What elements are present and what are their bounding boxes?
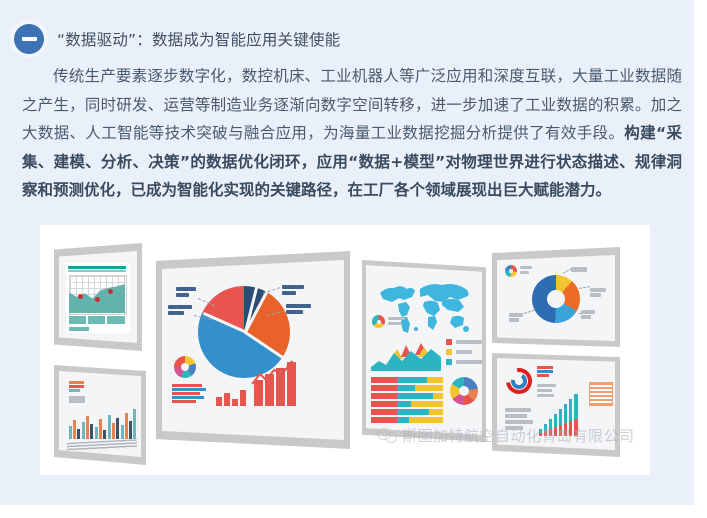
panel-screen <box>497 358 615 450</box>
mini-donut-chart <box>505 265 517 277</box>
area-chart-panel <box>54 243 142 351</box>
bar <box>544 431 547 436</box>
text-placeholder <box>505 420 533 424</box>
stacked-row <box>371 401 443 407</box>
callout-label <box>286 304 311 308</box>
donut-hole <box>547 290 565 308</box>
donut-hole <box>509 269 513 273</box>
text-placeholder <box>505 414 527 418</box>
bar <box>73 420 76 439</box>
legend-bar <box>172 384 202 387</box>
bar <box>108 415 111 439</box>
callout-label <box>509 318 519 322</box>
segment <box>427 377 443 383</box>
bar <box>69 426 72 439</box>
donut-chart <box>450 377 478 405</box>
legend-bar <box>537 384 556 387</box>
callout-label <box>571 267 587 272</box>
legend-swatch <box>69 389 80 392</box>
legend-swatch <box>69 381 84 384</box>
segment <box>433 393 443 399</box>
panel-screen <box>366 265 482 435</box>
legend-swatch <box>446 339 452 345</box>
callout-label <box>176 293 189 297</box>
segment <box>397 377 427 383</box>
segment <box>371 401 397 407</box>
segment <box>409 417 443 423</box>
legend-swatch <box>69 385 84 388</box>
bar <box>116 418 119 439</box>
bar <box>559 425 562 436</box>
legend-swatch <box>446 349 452 355</box>
world-map-panel <box>362 260 486 442</box>
donut-hole <box>459 386 469 396</box>
bar <box>129 421 132 439</box>
data-point <box>108 289 113 294</box>
bar <box>125 413 128 439</box>
legend-bar <box>172 400 196 403</box>
data-point <box>95 297 100 302</box>
panel-screen <box>497 255 615 341</box>
segment <box>415 385 443 391</box>
bar <box>554 427 557 436</box>
bar <box>112 423 115 439</box>
callout-label <box>282 291 296 295</box>
axis-labels <box>67 439 137 452</box>
article-panel: “数据驱动”：数据成为智能应用关键使能 传统生产要素逐步数字化，数控机床、工业机… <box>0 0 694 505</box>
bar <box>77 429 80 439</box>
bar <box>95 427 98 439</box>
legend-bar <box>172 392 200 395</box>
segment <box>397 385 415 391</box>
text-placeholder <box>505 408 531 412</box>
pie-chart-panel <box>156 251 350 449</box>
bar <box>121 425 124 439</box>
chart-surface <box>66 263 130 333</box>
legend-bar <box>537 370 553 373</box>
bar <box>569 421 572 436</box>
stacked-row <box>371 393 443 399</box>
trend-arrow <box>216 360 326 406</box>
mini-donut-chart <box>372 315 385 328</box>
bar <box>99 419 102 439</box>
legend-bar <box>172 388 206 391</box>
segment <box>397 417 409 423</box>
segment <box>429 409 443 415</box>
leader-line <box>524 310 535 314</box>
bar <box>86 416 89 439</box>
legend-bar <box>172 396 204 399</box>
bar <box>133 409 136 439</box>
callout-label <box>286 310 303 314</box>
section-heading: “数据驱动”：数据成为智能应用关键使能 <box>14 22 340 56</box>
figure-card: 斯图加特航空自动化青岛有限公司 <box>40 225 650 475</box>
segment <box>371 377 397 383</box>
stacked-row <box>371 417 443 423</box>
segment <box>371 409 397 415</box>
bar <box>539 433 542 436</box>
legend-bar <box>456 360 482 364</box>
callout-label <box>509 313 523 317</box>
bar-chart-panel <box>54 365 146 465</box>
donut-chart-panel <box>492 247 620 347</box>
legend-bar <box>456 350 472 354</box>
mini-donut-chart <box>174 356 196 378</box>
legend-block <box>107 316 125 324</box>
callout-label <box>168 305 192 309</box>
top-rule-2 <box>68 270 126 272</box>
mixed-chart-panel <box>492 353 620 457</box>
segment <box>397 409 429 415</box>
body-paragraph: 传统生产要素逐步数字化，数控机床、工业机器人等广泛应用和深度互联，大量工业数据随… <box>22 62 682 205</box>
bar <box>90 424 93 439</box>
legend-bar <box>520 271 529 274</box>
callout-label <box>590 288 606 292</box>
panel-screen <box>59 371 141 457</box>
stacked-row <box>371 409 443 415</box>
segment <box>371 385 397 391</box>
legend-bar <box>537 366 553 369</box>
legend-bar <box>537 374 549 377</box>
bar <box>549 429 552 436</box>
minus-circle-icon[interactable] <box>14 24 44 54</box>
donut-hole <box>377 320 381 324</box>
legend-bar <box>388 322 401 325</box>
panel-screen <box>59 251 137 343</box>
callout-label <box>176 287 196 291</box>
donut-hole <box>181 363 189 371</box>
callout-label <box>282 285 304 289</box>
growth-bars <box>216 360 326 406</box>
callout-label <box>581 315 591 319</box>
callout-label <box>581 310 595 314</box>
legend-bar <box>69 327 89 331</box>
legend-bar <box>520 266 532 269</box>
callout-label <box>590 293 601 297</box>
segment <box>397 401 411 407</box>
legend-block <box>88 316 105 324</box>
orange-block <box>589 382 613 406</box>
text-placeholder <box>505 426 523 430</box>
segment <box>371 417 397 423</box>
world-map-icon <box>376 279 476 337</box>
ascending-bar-chart <box>539 392 583 436</box>
legend-bar <box>456 340 482 344</box>
bar <box>82 422 85 439</box>
panel-screen <box>162 260 344 440</box>
page-title: “数据驱动”：数据成为智能应用关键使能 <box>57 28 340 50</box>
stacked-bar-chart <box>371 377 443 423</box>
minus-bar <box>22 37 37 41</box>
page-root: “数据驱动”：数据成为智能应用关键使能 传统生产要素逐步数字化，数控机床、工业机… <box>0 0 707 518</box>
data-point <box>78 294 83 299</box>
callout-label <box>168 311 184 315</box>
donut-chart <box>532 275 580 323</box>
bar <box>564 423 567 436</box>
segment <box>371 393 397 399</box>
bar-plot <box>69 405 135 439</box>
legend-swatch <box>446 359 452 365</box>
bar <box>103 430 106 439</box>
top-rule <box>68 266 126 269</box>
data-dashboard-illustration: 斯图加特航空自动化青岛有限公司 <box>40 225 650 475</box>
segment <box>397 393 433 399</box>
bar <box>574 419 578 436</box>
segment <box>411 401 443 407</box>
stacked-row <box>371 385 443 391</box>
mountain-area-chart <box>371 339 441 371</box>
stacked-row <box>371 377 443 383</box>
paragraph-text-normal: 传统生产要素逐步数字化，数控机床、工业机器人等广泛应用和深度互联，大量工业数据随… <box>22 67 682 142</box>
leader-line <box>579 286 590 289</box>
legend-block <box>69 316 86 324</box>
legend-block <box>69 396 85 403</box>
gauge-arc-chart <box>504 366 534 396</box>
legend-bar <box>388 317 405 320</box>
